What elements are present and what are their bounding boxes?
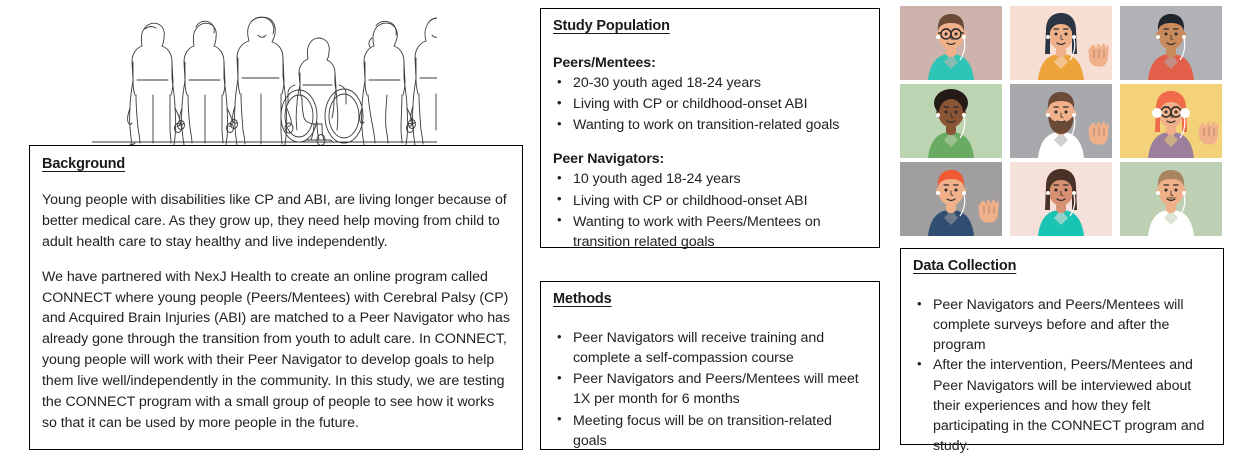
avatar-woman-afro-green-top xyxy=(900,84,1002,158)
avatar-woman-red-hair-glasses-purple-top xyxy=(1120,84,1222,158)
background-section-box: Background Young people with disabilitie… xyxy=(29,145,523,450)
video-call-participants-grid xyxy=(900,6,1222,238)
list-item: Wanting to work with Peers/Mentees on tr… xyxy=(553,212,869,252)
peer-navigators-heading: Peer Navigators: xyxy=(553,151,869,167)
list-item: Peer Navigators and Peers/Mentees will c… xyxy=(913,295,1213,355)
poster-canvas: Background Young people with disabilitie… xyxy=(0,0,1251,457)
list-item: Living with CP or childhood-onset ABI xyxy=(553,94,869,114)
avatar-man-moustache-white-shirt xyxy=(1120,162,1222,236)
methods-section-box: Methods Peer Navigators will receive tra… xyxy=(540,281,880,450)
list-item: 20-30 youth aged 18-24 years xyxy=(553,73,869,93)
background-title: Background xyxy=(42,156,125,172)
peers-mentees-heading: Peers/Mentees: xyxy=(553,55,869,71)
list-item: Peer Navigators will receive training an… xyxy=(553,328,869,368)
background-paragraph-2: We have partnered with NexJ Health to cr… xyxy=(42,267,512,434)
study-population-section-box: Study Population Peers/Mentees: 20-30 yo… xyxy=(540,8,880,248)
data-collection-title: Data Collection xyxy=(913,258,1016,274)
peer-navigators-list: 10 youth aged 18-24 years Living with CP… xyxy=(553,169,869,252)
list-item: Living with CP or childhood-onset ABI xyxy=(553,191,869,211)
avatar-man-dark-hair-red-shirt xyxy=(1120,6,1222,80)
avatar-man-glasses-teal-jacket xyxy=(900,6,1002,80)
avatar-man-beard-white-shirt xyxy=(1010,84,1112,158)
methods-title: Methods xyxy=(553,291,612,307)
list-item: Peer Navigators and Peers/Mentees will m… xyxy=(553,369,869,409)
list-item: After the intervention, Peers/Mentees an… xyxy=(913,355,1213,456)
group-of-people-line-drawing-illustration xyxy=(92,0,437,146)
peers-mentees-list: 20-30 youth aged 18-24 years Living with… xyxy=(553,73,869,135)
list-item: Wanting to work on transition-related go… xyxy=(553,115,869,135)
avatar-man-red-hair-blue-shirt xyxy=(900,162,1002,236)
methods-list: Peer Navigators will receive training an… xyxy=(553,328,869,451)
data-collection-list: Peer Navigators and Peers/Mentees will c… xyxy=(913,295,1213,456)
study-population-title: Study Population xyxy=(553,18,670,34)
background-paragraph-1: Young people with disabilities like CP a… xyxy=(42,190,512,253)
list-item: Meeting focus will be on transition-rela… xyxy=(553,411,869,451)
list-item: 10 youth aged 18-24 years xyxy=(553,169,869,189)
avatar-woman-brown-hair-turquoise-top xyxy=(1010,162,1112,236)
data-collection-section-box: Data Collection Peer Navigators and Peer… xyxy=(900,248,1224,445)
avatar-woman-long-black-hair-orange-top xyxy=(1010,6,1112,80)
